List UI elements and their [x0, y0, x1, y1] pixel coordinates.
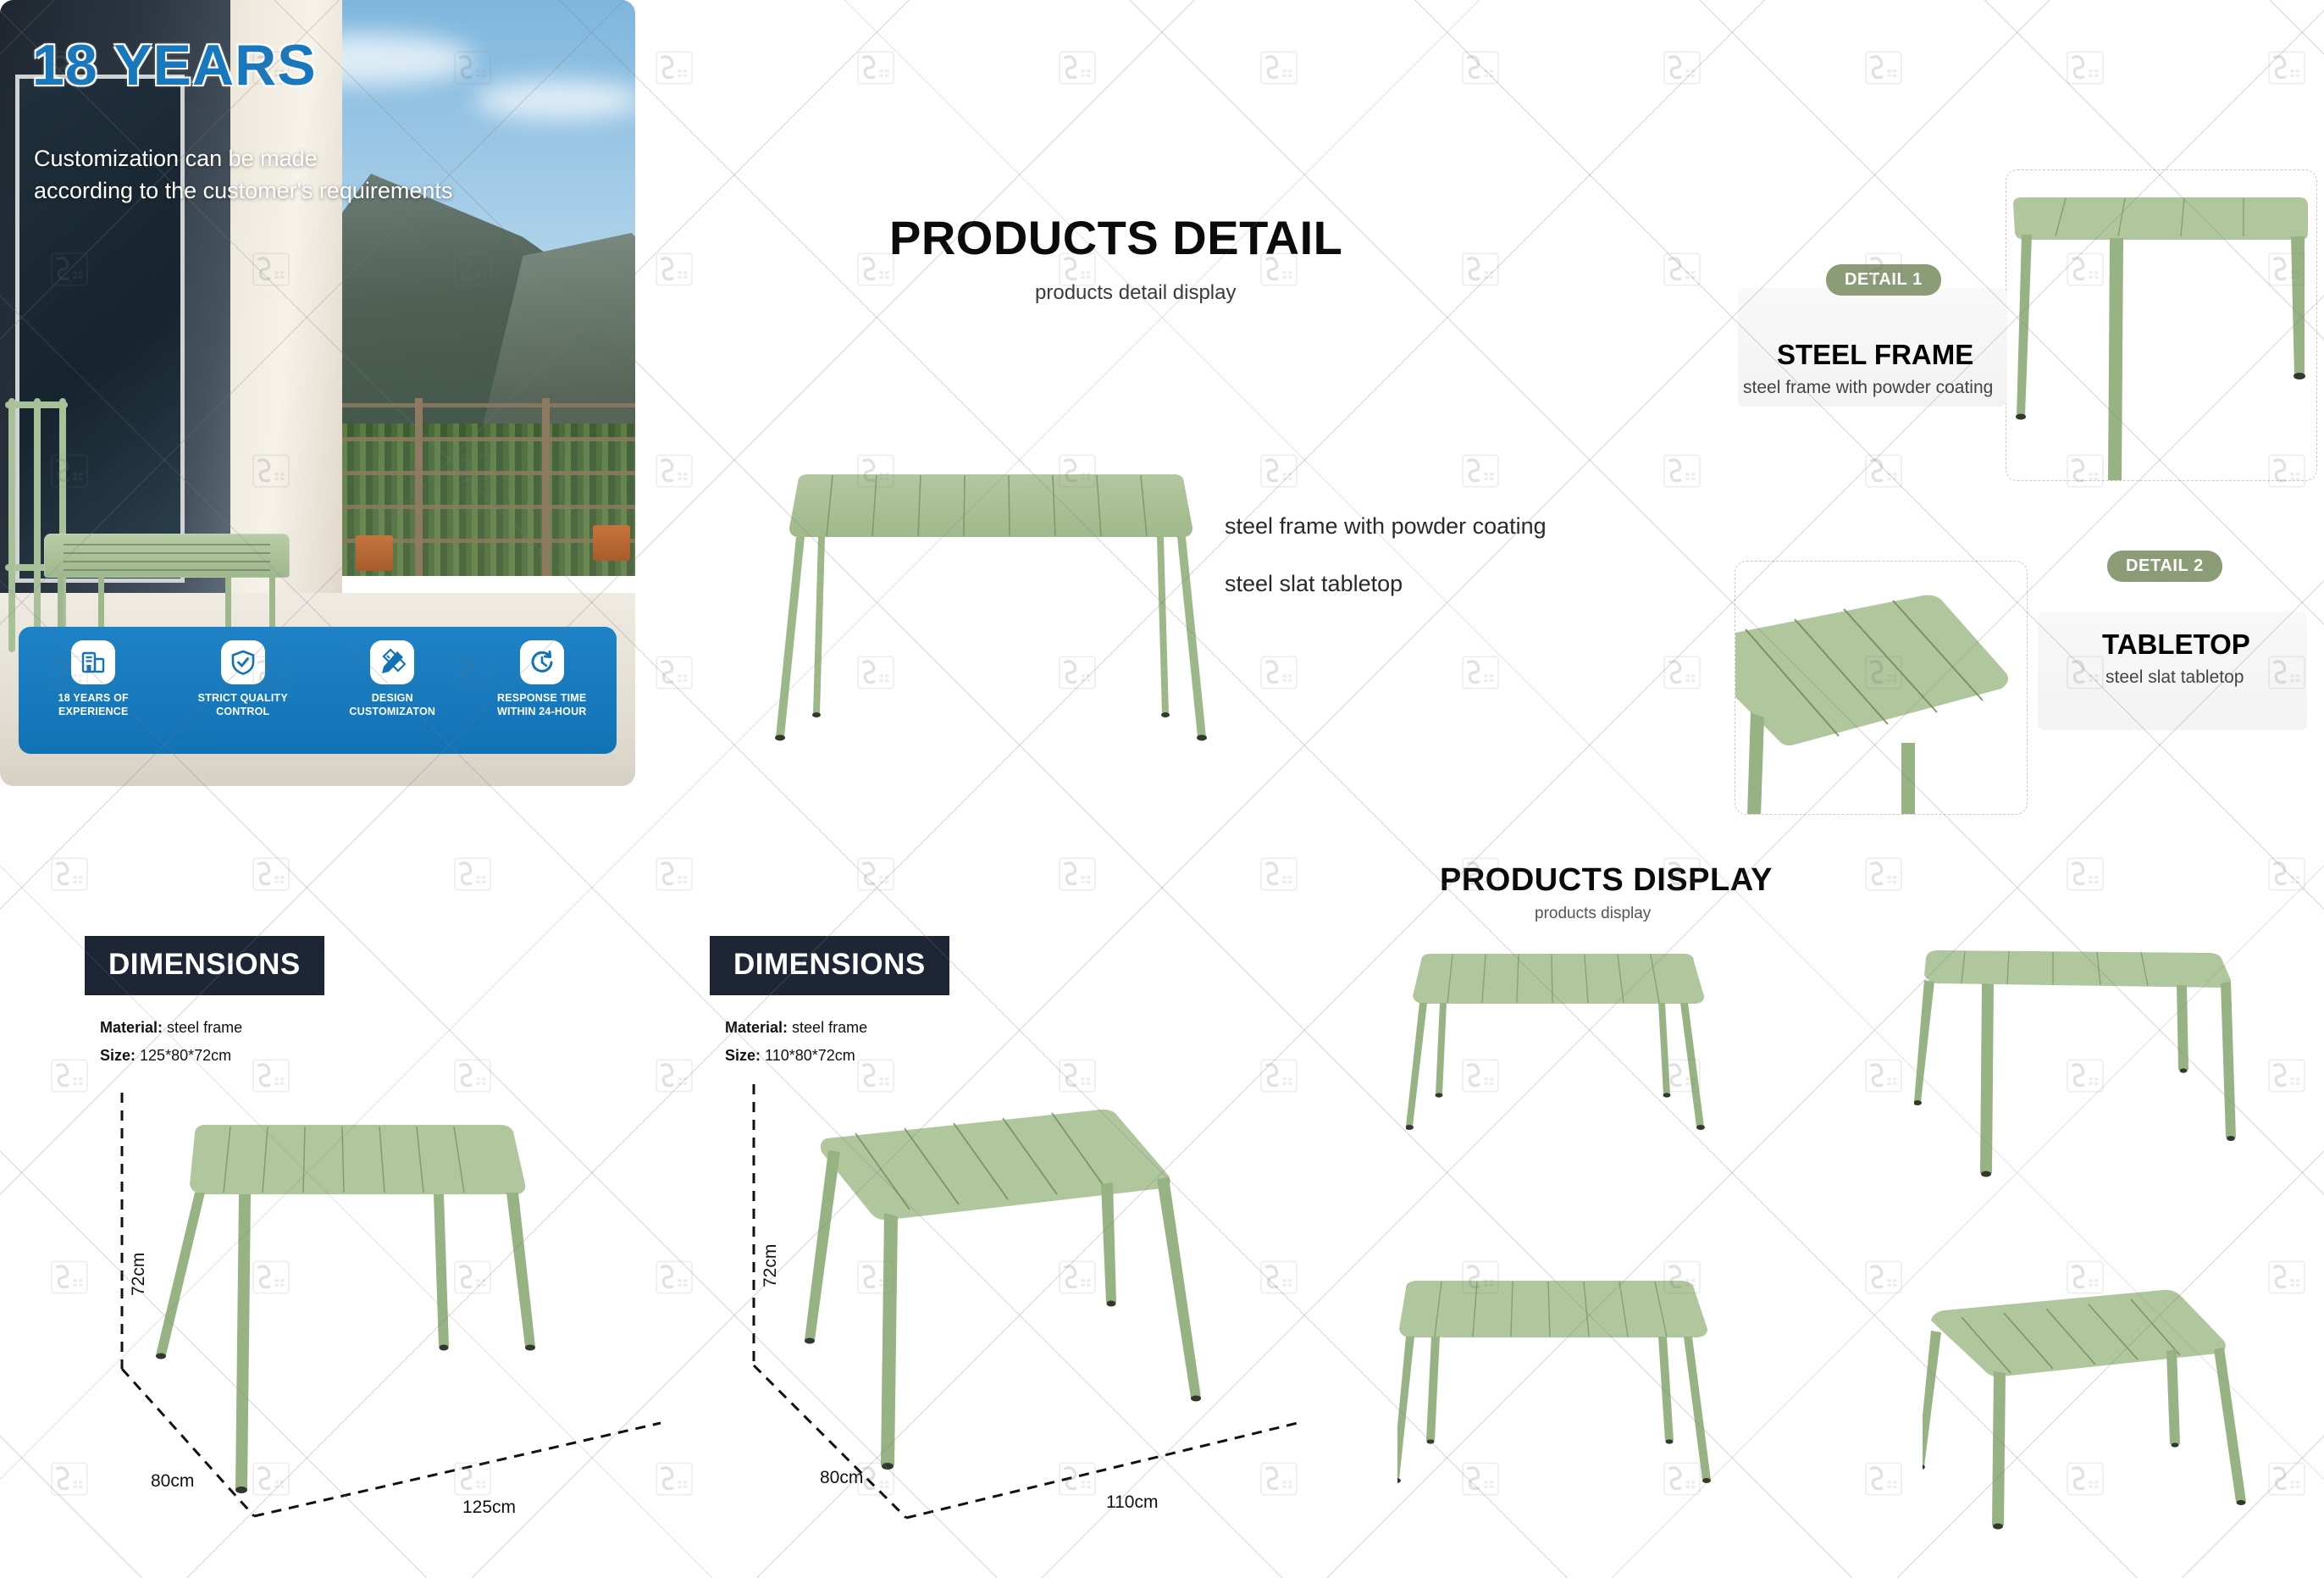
watermark-logo-icon	[454, 1059, 493, 1093]
watermark-logo-icon	[1663, 454, 1702, 488]
watermark-logo-icon	[656, 252, 694, 286]
pencil-ruler-icon	[370, 640, 414, 684]
detail-2-photo	[1735, 561, 2028, 815]
feature-label-line-2: EXPERIENCE	[58, 706, 129, 719]
product-detail-page: 18 YEARS Customization can be made accor…	[0, 0, 2324, 1578]
planter	[593, 525, 630, 561]
dimension-diagram-2	[728, 1084, 1304, 1542]
watermark-logo-icon	[51, 1462, 90, 1496]
feature-item-quality[interactable]: STRICT QUALITY CONTROL	[169, 627, 318, 754]
watermark-logo-icon	[2268, 51, 2307, 85]
bullet-slat-tabletop: steel slat tabletop	[1225, 571, 1403, 597]
feature-item-response[interactable]: RESPONSE TIME WITHIN 24-HOUR	[468, 627, 617, 754]
watermark-logo-icon	[1260, 857, 1299, 891]
products-detail-title: PRODUCTS DETAIL	[889, 210, 1342, 265]
display-item-4	[1923, 1275, 2295, 1563]
watermark-logo-icon	[1865, 51, 1904, 85]
detail-2-pill: DETAIL 2	[2107, 551, 2222, 582]
watermark-logo-icon	[656, 656, 694, 689]
dimension-depth-label-2: 80cm	[820, 1468, 863, 1488]
display-item-2	[1914, 927, 2287, 1215]
size-label: Size:	[100, 1047, 136, 1064]
feature-bar: 18 YEARS OF EXPERIENCE STRICT QUALITY CO…	[19, 627, 617, 754]
watermark-logo-icon	[857, 51, 896, 85]
watermark-logo-icon	[1865, 1260, 1904, 1294]
dimension-height-label-2: 72cm	[761, 1244, 781, 1287]
watermark-logo-icon	[1663, 656, 1702, 689]
building-icon	[71, 640, 115, 684]
feature-label-line-2: CONTROL	[198, 706, 288, 719]
feature-label-line-1: 18 YEARS OF	[58, 692, 129, 706]
size-label: Size:	[725, 1047, 761, 1064]
watermark-logo-icon	[1865, 1059, 1904, 1093]
material-label: Material:	[100, 1019, 163, 1036]
watermark-logo-icon	[1462, 656, 1501, 689]
watermark-logo-icon	[656, 51, 694, 85]
material-label: Material:	[725, 1019, 788, 1036]
dimensions-tag-2: DIMENSIONS	[710, 936, 949, 995]
detail-2-heading: TABLETOP	[2102, 628, 2250, 661]
table-top	[44, 534, 290, 578]
watermark-logo-icon	[1059, 857, 1098, 891]
dimensions-material-1: Material: steel frame	[100, 1019, 242, 1037]
clock-icon	[520, 640, 564, 684]
dimension-height-label-1: 72cm	[129, 1253, 149, 1296]
feature-label-line-1: DESIGN	[349, 692, 435, 706]
watermark-logo-icon	[1663, 51, 1702, 85]
size-value: 125*80*72cm	[140, 1047, 231, 1064]
watermark-logo-icon	[252, 857, 291, 891]
detail-1-heading: STEEL FRAME	[1777, 339, 1973, 371]
watermark-logo-icon	[1260, 656, 1299, 689]
watermark-logo-icon	[656, 857, 694, 891]
watermark-logo-icon	[656, 454, 694, 488]
feature-label-line-2: WITHIN 24-HOUR	[497, 706, 587, 719]
bullet-steel-frame: steel frame with powder coating	[1225, 513, 1547, 540]
feature-label: STRICT QUALITY CONTROL	[198, 692, 288, 718]
watermark-logo-icon	[1260, 454, 1299, 488]
watermark-logo-icon	[51, 1059, 90, 1093]
watermark-logo-icon	[454, 857, 493, 891]
hero-subtitle: Customization can be made according to t…	[34, 142, 452, 208]
detail-1-caption: steel frame with powder coating	[1743, 378, 1993, 398]
hero-subtitle-line-1: Customization can be made	[34, 142, 452, 174]
products-display-subtitle: products display	[1535, 905, 1651, 923]
dimension-width-label-1: 125cm	[462, 1498, 516, 1518]
watermark-logo-icon	[1865, 857, 1904, 891]
detail-1-pill: DETAIL 1	[1826, 264, 1941, 296]
watermark-logo-icon	[1865, 454, 1904, 488]
dimension-width-label-2: 110cm	[1106, 1492, 1158, 1513]
feature-label-line-1: RESPONSE TIME	[497, 692, 587, 706]
dimension-depth-label-1: 80cm	[151, 1471, 194, 1492]
hero-title: 18 YEARS	[32, 32, 317, 98]
watermark-logo-icon	[2067, 857, 2105, 891]
products-detail-subtitle: products detail display	[1035, 281, 1236, 305]
size-value: 110*80*72cm	[765, 1047, 855, 1064]
watermark-logo-icon	[2268, 857, 2307, 891]
dimensions-material-2: Material: steel frame	[725, 1019, 867, 1037]
watermark-logo-icon	[1865, 1462, 1904, 1496]
dimensions-tag-1: DIMENSIONS	[85, 936, 324, 995]
watermark-logo-icon	[1462, 51, 1501, 85]
watermark-logo-icon	[51, 857, 90, 891]
watermark-logo-icon	[656, 1059, 694, 1093]
feature-label: DESIGN CUSTOMIZATON	[349, 692, 435, 718]
detail-2-caption: steel slat tabletop	[2105, 667, 2244, 688]
watermark-logo-icon	[1260, 51, 1299, 85]
hero-subtitle-line-2: according to the customer's requirements	[34, 174, 452, 207]
dimensions-size-2: Size: 110*80*72cm	[725, 1047, 855, 1065]
watermark-logo-icon	[857, 857, 896, 891]
feature-label-line-1: STRICT QUALITY	[198, 692, 288, 706]
feature-label: 18 YEARS OF EXPERIENCE	[58, 692, 129, 718]
cloud	[474, 80, 635, 119]
watermark-logo-icon	[252, 1059, 291, 1093]
feature-item-design[interactable]: DESIGN CUSTOMIZATON	[318, 627, 468, 754]
watermark-logo-icon	[1059, 51, 1098, 85]
watermark-logo-icon	[1462, 454, 1501, 488]
products-display-title: PRODUCTS DISPLAY	[1440, 862, 1773, 899]
feature-item-experience[interactable]: 18 YEARS OF EXPERIENCE	[19, 627, 169, 754]
watermark-logo-icon	[51, 1260, 90, 1294]
display-item-3	[1397, 1258, 1770, 1546]
material-value: steel frame	[167, 1019, 242, 1036]
dimensions-size-1: Size: 125*80*72cm	[100, 1047, 231, 1065]
watermark-logo-icon	[1462, 252, 1501, 286]
material-value: steel frame	[792, 1019, 867, 1036]
main-product-image	[745, 419, 1237, 758]
shield-check-icon	[221, 640, 265, 684]
display-item-1	[1406, 932, 1779, 1220]
detail-1-photo	[2006, 169, 2317, 481]
watermark-logo-icon	[1663, 252, 1702, 286]
watermark-logo-icon	[2067, 51, 2105, 85]
planter	[356, 535, 393, 571]
feature-label: RESPONSE TIME WITHIN 24-HOUR	[497, 692, 587, 718]
feature-label-line-2: CUSTOMIZATON	[349, 706, 435, 719]
